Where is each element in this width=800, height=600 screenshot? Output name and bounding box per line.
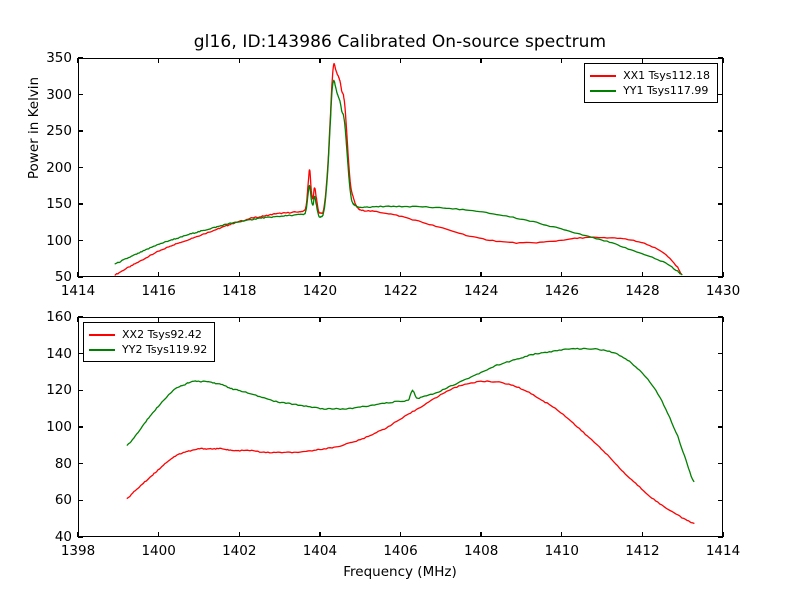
y-tick-label: 80 [22, 456, 72, 472]
x-tick-label: 1404 [303, 543, 337, 559]
x-tick-top [239, 317, 240, 322]
y-tick-right [718, 353, 723, 354]
bottom-plot-axes: XX2 Tsys92.42 YY2 Tsys119.92 [78, 317, 723, 537]
legend-swatch-yy1 [590, 90, 616, 92]
y-tick-label: 150 [22, 196, 72, 212]
y-tick [78, 316, 83, 317]
x-tick-top [400, 58, 401, 63]
x-tick [480, 532, 481, 537]
y-tick [78, 536, 83, 537]
x-tick-top [158, 58, 159, 63]
x-tick-label: 1414 [61, 283, 95, 299]
x-tick-top [642, 317, 643, 322]
x-tick-label: 1428 [625, 283, 659, 299]
x-tick [561, 272, 562, 277]
y-tick-right [718, 130, 723, 131]
y-tick-right [718, 390, 723, 391]
series-line [127, 381, 694, 523]
x-tick [561, 532, 562, 537]
y-tick [78, 463, 83, 464]
y-tick-label: 250 [22, 123, 72, 139]
y-tick [78, 203, 83, 204]
top-plot-axes: XX1 Tsys112.18 YY1 Tsys117.99 [78, 58, 723, 277]
bottom-plot-xlabel: Frequency (MHz) [0, 564, 800, 580]
x-tick-label: 1424 [464, 283, 498, 299]
series-line [127, 348, 694, 481]
legend-item: YY2 Tsys119.92 [89, 342, 207, 357]
legend-swatch-yy2 [89, 349, 115, 351]
x-tick-label: 1400 [141, 543, 175, 559]
x-tick-top [722, 317, 723, 322]
x-tick-label: 1416 [141, 283, 175, 299]
x-tick-top [480, 317, 481, 322]
y-tick-right [718, 240, 723, 241]
x-tick-label: 1410 [545, 543, 579, 559]
y-tick-right [718, 167, 723, 168]
x-tick [239, 532, 240, 537]
y-tick [78, 130, 83, 131]
x-tick-top [319, 58, 320, 63]
series-line [115, 80, 682, 274]
y-tick-right [718, 316, 723, 317]
x-tick-label: 1422 [383, 283, 417, 299]
x-tick [319, 272, 320, 277]
x-tick-label: 1408 [464, 543, 498, 559]
legend-swatch-xx1 [590, 75, 616, 77]
x-tick-top [400, 317, 401, 322]
y-tick-label: 100 [22, 419, 72, 435]
y-tick [78, 353, 83, 354]
x-tick [158, 532, 159, 537]
x-tick [400, 532, 401, 537]
legend-item: XX2 Tsys92.42 [89, 327, 207, 342]
legend-label-yy1: YY1 Tsys117.99 [623, 84, 708, 97]
y-tick-right [718, 463, 723, 464]
x-tick [158, 272, 159, 277]
x-tick-label: 1430 [706, 283, 740, 299]
x-tick-top [722, 58, 723, 63]
legend-label-xx2: XX2 Tsys92.42 [122, 328, 202, 341]
y-tick [78, 500, 83, 501]
x-tick-top [561, 58, 562, 63]
x-tick [642, 532, 643, 537]
x-tick-label: 1402 [222, 543, 256, 559]
x-tick-top [239, 58, 240, 63]
x-tick-top [480, 58, 481, 63]
y-tick-label: 100 [22, 233, 72, 249]
y-tick-label: 60 [22, 492, 72, 508]
y-tick-right [718, 536, 723, 537]
y-tick-right [718, 426, 723, 427]
x-tick-top [642, 58, 643, 63]
x-tick-label: 1412 [625, 543, 659, 559]
y-tick [78, 94, 83, 95]
y-tick-right [718, 203, 723, 204]
y-tick [78, 276, 83, 277]
x-tick-top [158, 317, 159, 322]
y-tick [78, 240, 83, 241]
legend-label-yy2: YY2 Tsys119.92 [122, 343, 207, 356]
legend-swatch-xx2 [89, 334, 115, 336]
x-tick [642, 272, 643, 277]
x-tick-top [77, 58, 78, 63]
y-tick-right [718, 500, 723, 501]
x-tick [480, 272, 481, 277]
x-tick-top [561, 317, 562, 322]
y-tick-label: 200 [22, 160, 72, 176]
x-tick-label: 1414 [706, 543, 740, 559]
matplotlib-figure: gl16, ID:143986 Calibrated On-source spe… [0, 0, 800, 600]
y-tick-label: 120 [22, 382, 72, 398]
figure-title: gl16, ID:143986 Calibrated On-source spe… [0, 32, 800, 52]
y-tick [78, 167, 83, 168]
x-tick-top [319, 317, 320, 322]
x-tick-label: 1406 [383, 543, 417, 559]
x-tick [319, 532, 320, 537]
legend-label-xx1: XX1 Tsys112.18 [623, 69, 710, 82]
y-tick-label: 350 [22, 50, 72, 66]
x-tick-label: 1418 [222, 283, 256, 299]
y-tick-label: 40 [22, 529, 72, 545]
y-tick-right [718, 94, 723, 95]
x-tick [400, 272, 401, 277]
y-tick [78, 57, 83, 58]
y-tick [78, 426, 83, 427]
x-tick-label: 1398 [61, 543, 95, 559]
x-tick-label: 1420 [303, 283, 337, 299]
bottom-plot-legend: XX2 Tsys92.42 YY2 Tsys119.92 [83, 322, 215, 362]
y-tick-label: 50 [22, 269, 72, 285]
y-tick-label: 300 [22, 87, 72, 103]
y-tick-label: 160 [22, 309, 72, 325]
y-tick-right [718, 276, 723, 277]
x-tick-label: 1426 [545, 283, 579, 299]
legend-item: YY1 Tsys117.99 [590, 83, 710, 98]
y-tick [78, 390, 83, 391]
y-tick-label: 140 [22, 346, 72, 362]
legend-item: XX1 Tsys112.18 [590, 68, 710, 83]
top-plot-legend: XX1 Tsys112.18 YY1 Tsys117.99 [584, 63, 718, 103]
y-tick-right [718, 57, 723, 58]
x-tick [239, 272, 240, 277]
x-tick-top [77, 317, 78, 322]
